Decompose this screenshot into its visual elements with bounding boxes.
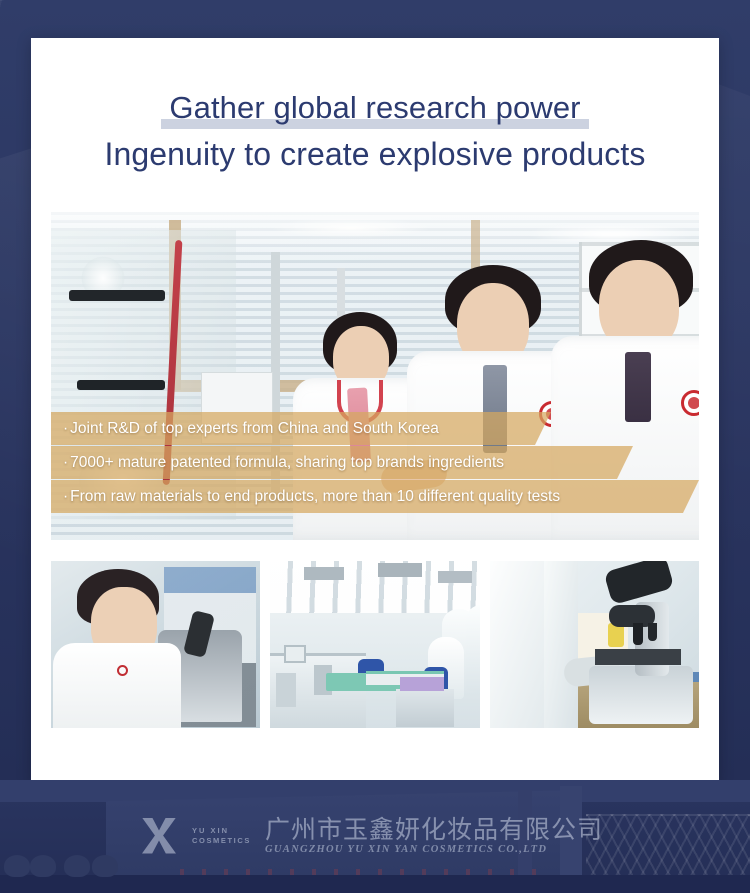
hero-feature-list: ·Joint R&D of top experts from China and… xyxy=(51,412,699,514)
monitor-icon xyxy=(284,645,306,663)
footer-building-image: YU XIN COSMETICS 广州市玉鑫妍化妆品有限公司 GUANGZHOU… xyxy=(0,780,750,893)
footer-bush-icon xyxy=(30,855,56,877)
footer-bush-icon xyxy=(92,855,118,877)
microscope-stage-icon xyxy=(595,649,681,665)
hero-feature-item: ·Joint R&D of top experts from China and… xyxy=(51,412,699,445)
footer-gate-icon xyxy=(586,814,750,884)
hero-feature-label: Joint R&D of top experts from China and … xyxy=(70,420,439,437)
company-name-block: 广州市玉鑫妍化妆品有限公司 GUANGZHOU YU XIN YAN COSME… xyxy=(265,816,603,855)
person-torso xyxy=(544,561,578,728)
logo-text-line-1: YU XIN xyxy=(192,826,251,835)
company-name-english: GUANGZHOU YU XIN YAN COSMETICS CO.,LTD xyxy=(265,844,603,855)
page-title: Gather global research power Ingenuity t… xyxy=(31,84,719,178)
person-lab-coat xyxy=(53,643,181,728)
logo-bowtie-mark-icon xyxy=(142,818,176,854)
footer-bush-icon xyxy=(64,855,90,877)
microscope-objective-icon xyxy=(648,623,657,641)
logo-text-line-2: COSMETICS xyxy=(192,836,251,845)
footer-ground xyxy=(0,875,750,893)
company-name-chinese: 广州市玉鑫妍化妆品有限公司 xyxy=(265,816,603,844)
hero-feature-item: ·7000+ mature patented formula, sharing … xyxy=(51,446,699,479)
hero-feature-text-2: ·7000+ mature patented formula, sharing … xyxy=(51,455,504,471)
company-logo-icon xyxy=(140,818,182,854)
content-card: Gather global research power Ingenuity t… xyxy=(31,38,719,785)
company-logo-text: YU XIN COSMETICS xyxy=(192,826,251,845)
ceiling-vent-icon xyxy=(304,567,344,580)
lab-cart-icon xyxy=(396,689,454,727)
thumbnail-microscope-researcher[interactable] xyxy=(51,561,260,728)
page-title-line-1: Gather global research power xyxy=(169,84,580,131)
hero-feature-item: ·From raw materials to end products, mor… xyxy=(51,480,699,513)
thumbnail-microscope-closeup[interactable] xyxy=(490,561,699,728)
hero-clamp-icon xyxy=(69,290,165,301)
ceiling-lights-icon xyxy=(270,561,479,613)
page-title-line-1-text: Gather global research power xyxy=(169,90,580,125)
hero-clamp-icon xyxy=(77,380,165,390)
ceiling-vent-icon xyxy=(438,571,472,583)
microscope-objective-icon xyxy=(633,623,643,645)
storage-box-icon xyxy=(400,677,444,691)
page-title-line-2: Ingenuity to create explosive products xyxy=(31,131,719,178)
thumbnail-row xyxy=(51,561,699,728)
footer-bush-icon xyxy=(4,855,30,877)
company-badge-icon xyxy=(117,665,128,676)
bullet-icon: · xyxy=(63,420,68,437)
ceiling-vent-icon xyxy=(378,563,422,577)
company-signage: YU XIN COSMETICS 广州市玉鑫妍化妆品有限公司 GUANGZHOU… xyxy=(140,816,603,855)
page-root: Gather global research power Ingenuity t… xyxy=(0,0,750,893)
hero-feature-text-3: ·From raw materials to end products, mor… xyxy=(51,489,560,505)
bullet-icon: · xyxy=(63,488,68,505)
hero-feature-text-1: ·Joint R&D of top experts from China and… xyxy=(51,421,439,437)
hero-feature-label: 7000+ mature patented formula, sharing t… xyxy=(70,454,504,471)
microscope-icon xyxy=(276,673,296,707)
cleanroom-worker xyxy=(466,605,479,691)
thumbnail-cleanroom[interactable] xyxy=(270,561,479,728)
hero-image: ·Joint R&D of top experts from China and… xyxy=(51,212,699,540)
hero-feature-label: From raw materials to end products, more… xyxy=(70,488,560,505)
bullet-icon: · xyxy=(63,454,68,471)
